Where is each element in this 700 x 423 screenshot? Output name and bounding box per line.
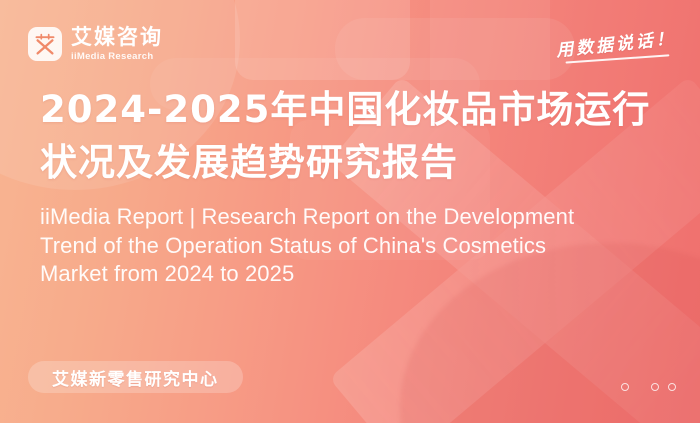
page-title-cn: 2024-2025年中国化妆品市场运行状况及发展趋势研究报告 — [40, 84, 670, 189]
research-center-badge: 艾媒新零售研究中心 — [28, 361, 243, 393]
report-cover-slide: 艾媒咨询 iiMedia Research 用数据说话！ 2024-2025年中… — [0, 0, 700, 423]
circle-dot-icon — [621, 383, 629, 391]
circle-dot-icon — [651, 383, 659, 391]
page-subtitle-en: iiMedia Report | Research Report on the … — [40, 203, 670, 289]
circle-dot-icon — [668, 383, 676, 391]
handwritten-tagline: 用数据说话！ — [555, 24, 677, 66]
research-center-badge-label: 艾媒新零售研究中心 — [52, 365, 219, 390]
decorative-dots — [621, 383, 676, 391]
brand-logo: 艾媒咨询 iiMedia Research — [28, 27, 163, 62]
brand-name-cn: 艾媒咨询 — [71, 27, 163, 48]
subtitle-line: Trend of the Operation Status of China's… — [40, 232, 670, 261]
iimedia-logo-icon — [28, 27, 62, 61]
brand-logo-text: 艾媒咨询 iiMedia Research — [71, 27, 163, 62]
brand-name-en: iiMedia Research — [71, 52, 163, 62]
subtitle-line: iiMedia Report | Research Report on the … — [40, 203, 670, 232]
background-shape-2 — [335, 18, 575, 80]
background-shape-1 — [235, 0, 410, 80]
subtitle-line: Market from 2024 to 2025 — [40, 260, 670, 289]
